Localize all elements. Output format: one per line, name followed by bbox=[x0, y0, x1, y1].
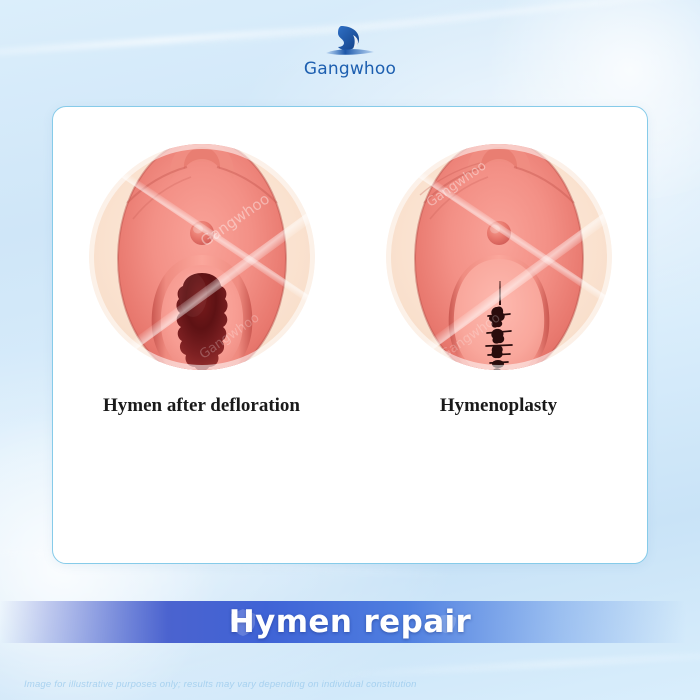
infographic-page: Gangwhoo bbox=[0, 0, 700, 700]
figure-row: Gangwhoo Gangwhoo Hymen after defloratio… bbox=[53, 133, 647, 417]
gangwhoo-logo-mark-icon bbox=[323, 24, 377, 58]
brand-name: Gangwhoo bbox=[304, 59, 396, 79]
hymen-after-defloration-illustration: Gangwhoo Gangwhoo bbox=[87, 133, 317, 381]
figure-caption-after: Hymenoplasty bbox=[440, 395, 557, 417]
background-streak bbox=[320, 646, 700, 678]
content-card: Gangwhoo Gangwhoo Hymen after defloratio… bbox=[52, 106, 648, 564]
banner-title: Hymen repair bbox=[229, 604, 471, 640]
figure-after: Gangwhoo Gangwhoo Hymenoplasty bbox=[374, 133, 624, 417]
hymenoplasty-illustration: Gangwhoo Gangwhoo bbox=[384, 133, 614, 381]
disclaimer-text: Image for illustrative purposes only; re… bbox=[24, 679, 417, 690]
figure-caption-before: Hymen after defloration bbox=[103, 395, 300, 417]
bottom-banner: Hymen repair bbox=[0, 601, 700, 643]
figure-before: Gangwhoo Gangwhoo Hymen after defloratio… bbox=[77, 133, 327, 417]
brand-logo: Gangwhoo bbox=[0, 24, 700, 79]
